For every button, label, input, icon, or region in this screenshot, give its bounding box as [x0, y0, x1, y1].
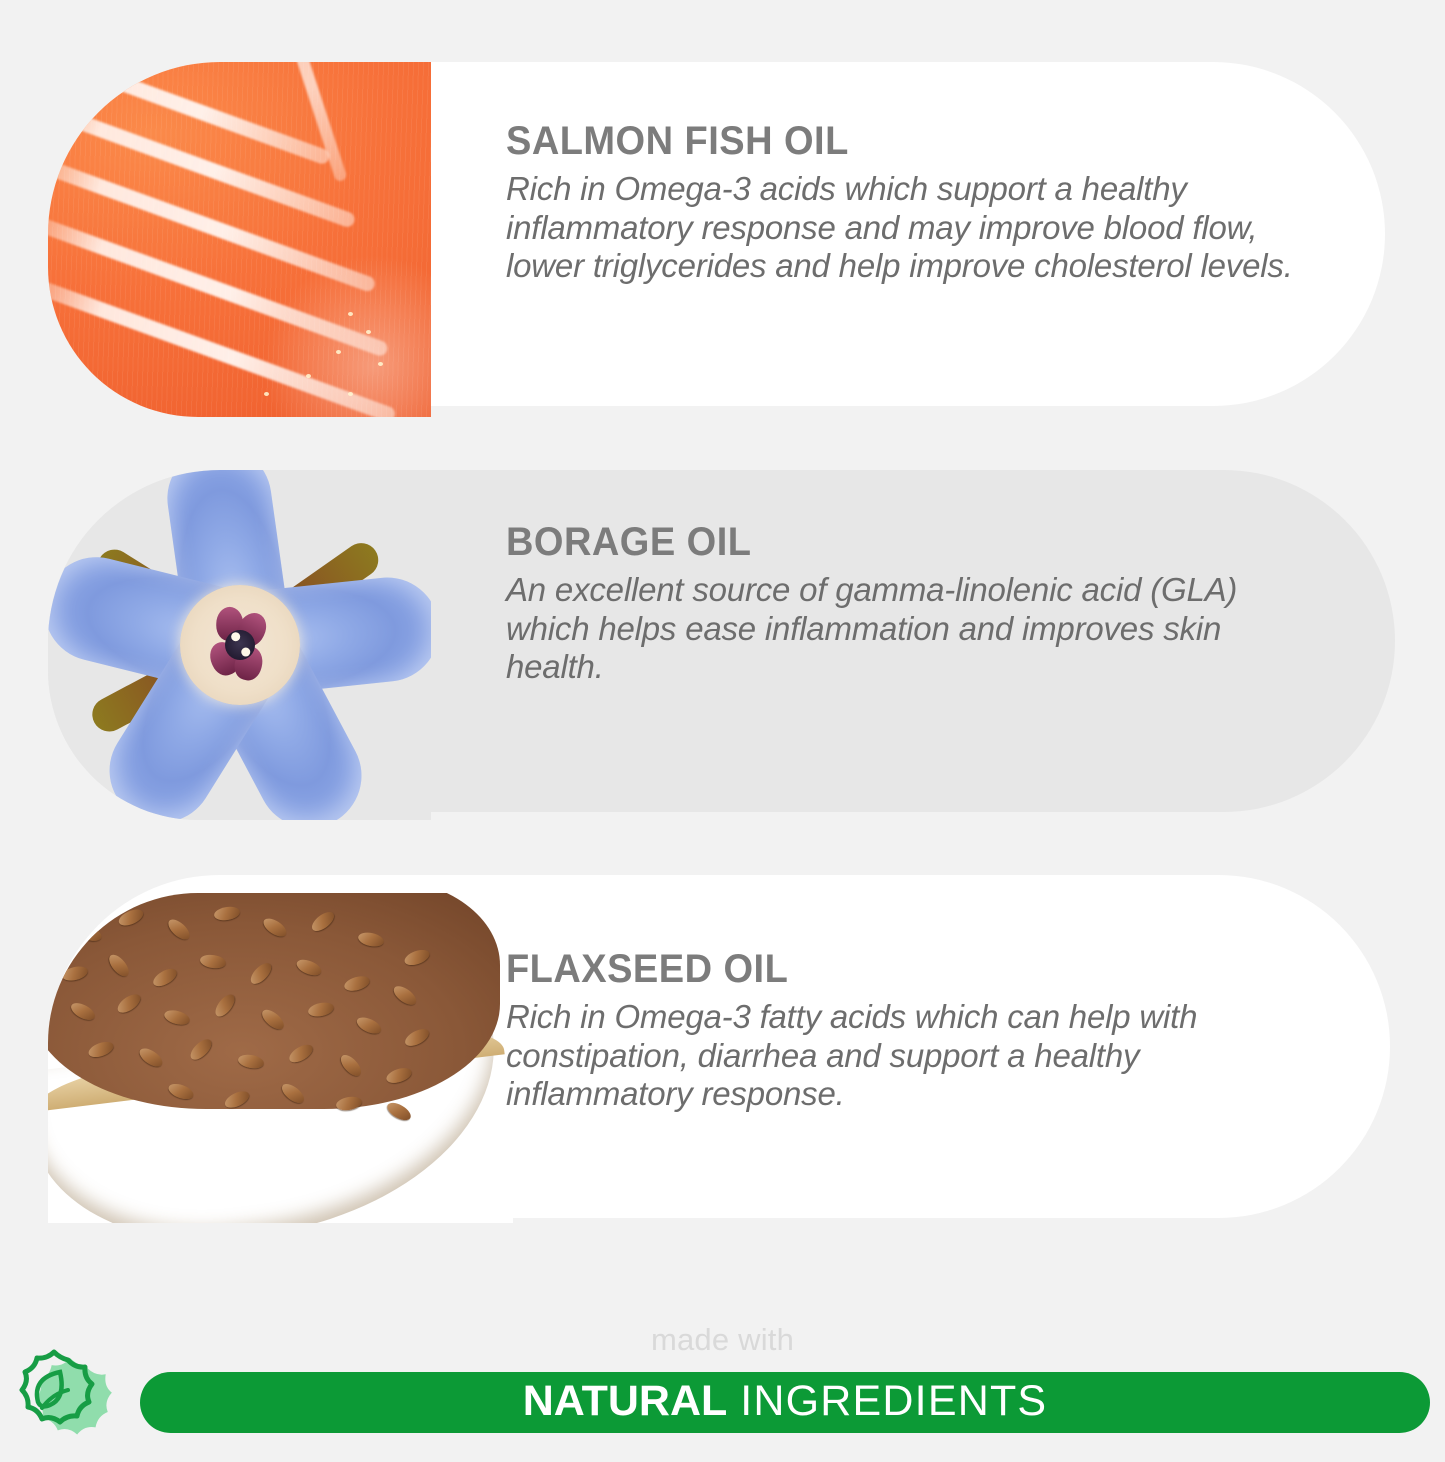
- salmon-text-block: SALMON FISH OIL Rich in Omega-3 acids wh…: [506, 119, 1336, 286]
- flaxseed-text-block: FLAXSEED OIL Rich in Omega-3 fatty acids…: [506, 947, 1321, 1114]
- made-with-label: made with: [0, 1322, 1445, 1358]
- salmon-illustration: [48, 62, 431, 417]
- borage-text-block: BORAGE OIL An excellent source of gamma-…: [506, 520, 1296, 687]
- card-heading-borage: BORAGE OIL: [506, 520, 1257, 565]
- ingredient-card-salmon-fish-oil: SALMON FISH OIL Rich in Omega-3 acids wh…: [48, 62, 1385, 406]
- ingredient-card-borage-oil: BORAGE OIL An excellent source of gamma-…: [48, 470, 1395, 812]
- banner-space: [727, 1377, 740, 1425]
- banner-word-natural: NATURAL: [523, 1377, 728, 1425]
- ingredient-card-flaxseed-oil: FLAXSEED OIL Rich in Omega-3 fatty acids…: [48, 875, 1390, 1218]
- salmon-highlight: [241, 247, 431, 417]
- card-body-borage: An excellent source of gamma-linolenic a…: [506, 571, 1296, 687]
- card-body-flaxseed: Rich in Omega-3 fatty acids which can he…: [506, 998, 1321, 1114]
- flaxseed-illustration: [48, 893, 513, 1223]
- leaf-badge-icon: [4, 1338, 124, 1456]
- card-heading-salmon: SALMON FISH OIL: [506, 119, 1295, 164]
- borage-flower-photo: [48, 470, 431, 820]
- card-body-salmon: Rich in Omega-3 acids which support a he…: [506, 170, 1336, 286]
- banner-word-ingredients: INGREDIENTS: [740, 1377, 1047, 1425]
- natural-ingredients-text: NATURAL INGREDIENTS: [523, 1377, 1048, 1426]
- natural-ingredients-banner: NATURAL INGREDIENTS: [140, 1372, 1430, 1433]
- borage-illustration: [48, 470, 431, 820]
- flaxseed-scoop-photo: [48, 893, 513, 1223]
- salmon-fillet-photo: [48, 62, 431, 417]
- card-heading-flaxseed: FLAXSEED OIL: [506, 947, 1280, 992]
- infographic-page: SALMON FISH OIL Rich in Omega-3 acids wh…: [0, 0, 1445, 1462]
